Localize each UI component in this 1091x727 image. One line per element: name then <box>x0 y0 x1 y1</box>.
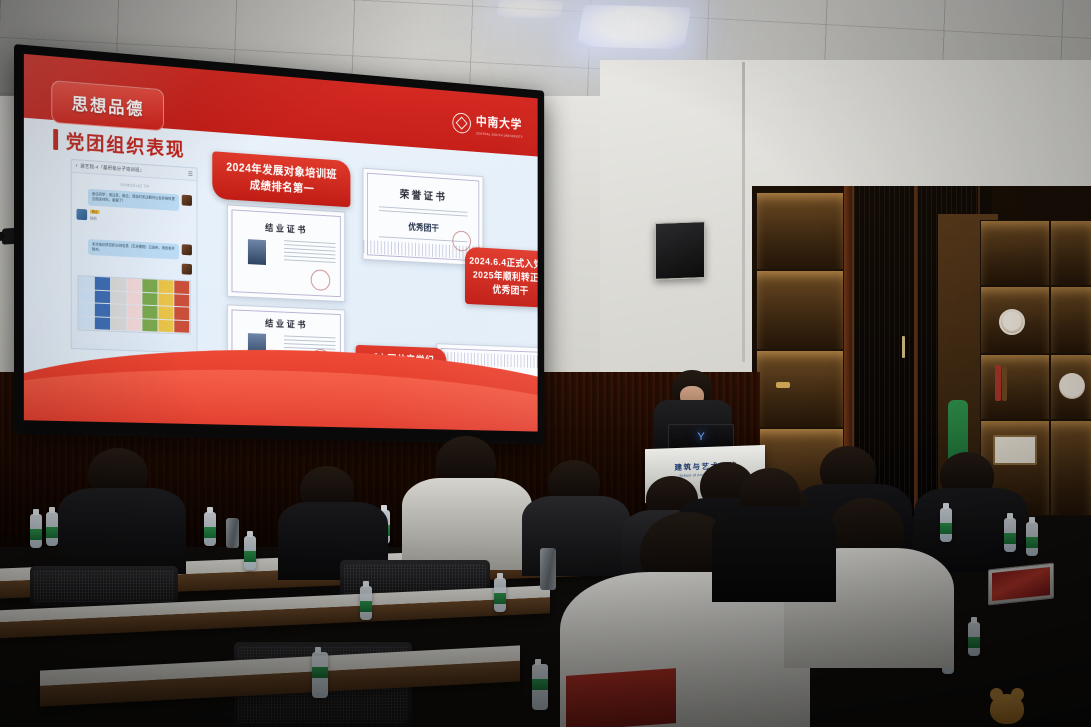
door-handle-icon[interactable] <box>902 336 905 358</box>
water-bottle <box>204 512 216 546</box>
chair <box>30 566 178 606</box>
shelf-cell <box>1050 286 1091 354</box>
book-spine <box>995 365 1001 401</box>
avatar <box>182 195 192 206</box>
wall-corner <box>742 62 745 362</box>
presentation-display[interactable]: 思想品德 中南大学 CENTRAL SOUTH UNIVERSITY 党团组织表… <box>14 44 544 444</box>
wall-speaker <box>655 221 705 280</box>
shelf-cell <box>756 192 844 270</box>
bookshelf-wall <box>752 186 1091 516</box>
decorative-plate <box>999 309 1025 335</box>
framed-picture <box>993 435 1037 465</box>
plush-toy <box>990 694 1024 724</box>
avatar <box>77 208 88 219</box>
decorative-plate <box>1059 373 1085 399</box>
water-bottle <box>30 514 42 548</box>
red-folder <box>566 668 676 727</box>
callout-training-class-2024: 2024年发展对象培训班 成绩排名第一 <box>212 151 350 207</box>
shelf-cell <box>756 270 844 350</box>
university-name-block: 中南大学 CENTRAL SOUTH UNIVERSITY <box>476 113 523 139</box>
shelf-cell <box>1050 420 1091 516</box>
wechat-bubble-text: 本次培训学员积分排名表（艺术楼院）已发布，请查收并核对。 <box>88 239 179 260</box>
avatar <box>182 264 192 275</box>
certificate-honor-1: 荣誉证书 优秀团干 <box>363 168 484 266</box>
chevron-left-icon: ‹ <box>76 163 78 169</box>
shelf-cell <box>756 350 844 428</box>
water-bottle <box>968 622 980 656</box>
wechat-screenshot: ‹ 建艺院-4『最积极分子培训班』 ☰ 2023年3月14日 下午 各位同学，请… <box>71 159 198 354</box>
certificate-seal <box>452 230 470 251</box>
score-table-image <box>77 275 191 335</box>
thermos-flask <box>540 548 556 590</box>
slide-canvas: 思想品德 中南大学 CENTRAL SOUTH UNIVERSITY 党团组织表… <box>24 54 538 432</box>
callout-party-membership: 2024.6.4正式入党， 2025年顺利转正； 优秀团干 <box>465 247 538 308</box>
shelf-object <box>776 382 790 388</box>
shelf-cell <box>1050 220 1091 286</box>
water-bottle <box>46 512 58 546</box>
university-name-cn: 中南大学 <box>476 114 522 131</box>
certificate-photo <box>248 239 266 265</box>
wechat-titlebar: ‹ 建艺院-4『最积极分子培训班』 ☰ <box>72 160 197 181</box>
shelf-cell <box>980 286 1050 354</box>
water-bottle <box>532 664 548 710</box>
water-bottle <box>312 652 328 698</box>
audience-laptop[interactable] <box>988 563 1054 606</box>
certificate-text-lines <box>275 237 344 266</box>
water-bottle <box>1004 518 1016 552</box>
wechat-chat-title: 建艺院-4『最积极分子培训班』 <box>80 164 144 174</box>
avatar <box>182 244 192 255</box>
thermos-flask <box>226 518 239 548</box>
water-bottle <box>494 578 506 612</box>
water-bottle <box>940 508 952 542</box>
csu-seal-icon <box>452 112 470 134</box>
shelf-cell <box>980 354 1050 420</box>
certificate-seal <box>311 269 330 291</box>
shelf-cell <box>1050 354 1091 420</box>
water-bottle <box>244 536 256 570</box>
lecture-hall-scene: 思想品德 中南大学 CENTRAL SOUTH UNIVERSITY 党团组织表… <box>0 0 1091 727</box>
water-bottle <box>1026 522 1038 556</box>
slide-body: 党团组织表现 ‹ 建艺院-4『最积极分子培训班』 ☰ 2023年3月14日 下午… <box>24 118 538 432</box>
slide-section-heading: 党团组织表现 <box>53 126 185 162</box>
wechat-role-tag: 群主 <box>90 209 100 214</box>
laptop-logo-icon: Y <box>696 432 706 444</box>
book-spine <box>1002 367 1007 401</box>
more-menu-icon: ☰ <box>188 170 193 177</box>
shelf-cell <box>980 220 1050 286</box>
slide-ribbon-decoration <box>24 324 538 431</box>
wechat-bubble-text: 好的 <box>90 214 102 224</box>
wechat-sender-name: 群主 <box>90 209 102 214</box>
water-bottle <box>360 586 372 620</box>
certificate-completion-1: 结业证书 <box>227 204 345 302</box>
laptop-screen <box>992 567 1050 601</box>
